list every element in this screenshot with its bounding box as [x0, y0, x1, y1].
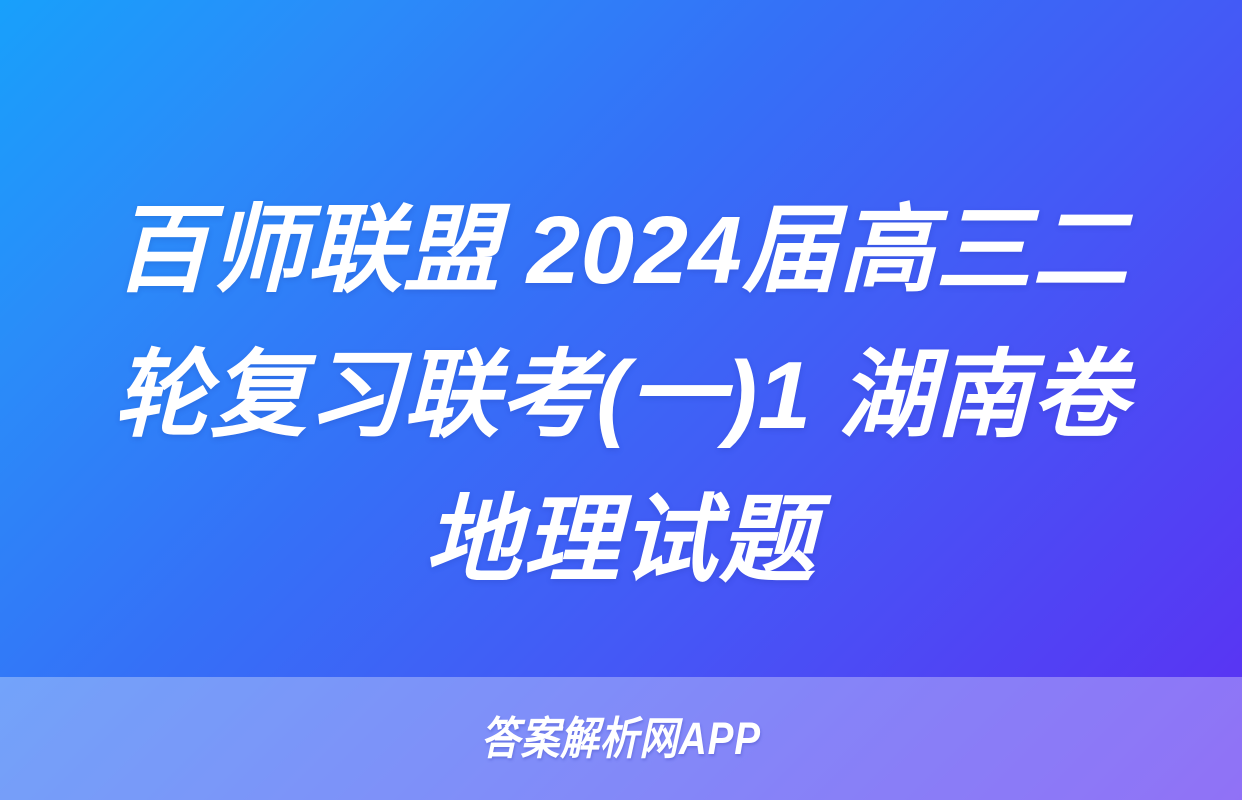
title-line-2: 轮复习联考(一)1 湖南卷 — [74, 323, 1168, 468]
title-line-3: 地理试题 — [74, 468, 1168, 613]
watermark-label: 答案解析网APP — [87, 714, 1155, 764]
watermark-band: 答案解析网APP — [0, 677, 1242, 800]
title-line-1: 百师联盟 2024届高三二 — [74, 178, 1168, 323]
exam-cover-card: 百师联盟 2024届高三二 轮复习联考(一)1 湖南卷 地理试题 答案解析网AP… — [0, 0, 1242, 800]
page-title: 百师联盟 2024届高三二 轮复习联考(一)1 湖南卷 地理试题 — [0, 178, 1242, 613]
